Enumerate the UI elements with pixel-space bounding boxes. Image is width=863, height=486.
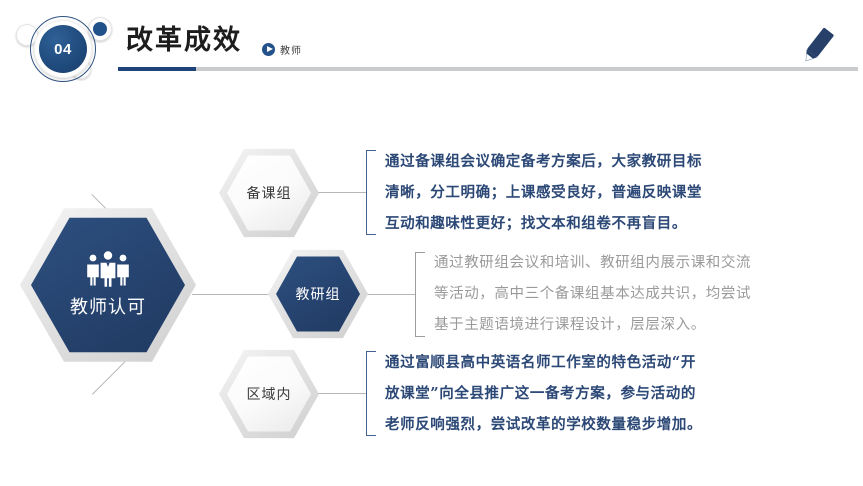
slide-canvas: 04 改革成效 教师 [0,0,863,486]
play-icon [262,43,275,56]
hex-node-3-label: 区域内 [247,384,292,404]
description-line: 通过富顺县高中英语名师工作室的特色活动“开 [385,347,702,378]
people-group-icon [82,251,134,287]
description-line: 互动和趣味性更好；找文本和组卷不再盲目。 [385,208,702,239]
description-block-1: 通过备课组会议确定备考方案后，大家教研目标 清晰，分工明确；上课感受良好，普遍反… [385,146,702,239]
hex-node-3[interactable]: 区域内 [219,348,319,440]
description-line: 老师反响强烈，尝试改革的学校数量稳步增加。 [385,409,702,440]
text-bracket-3 [366,351,376,436]
text-bracket-2 [415,252,425,337]
text-bracket-1 [366,150,376,235]
description-line: 通过教研组会议和培训、教研组内展示课和交流 [434,248,751,279]
description-line: 清晰，分工明确；上课感受良好，普遍反映课堂 [385,177,702,208]
header-subtitle-label: 教师 [280,42,302,57]
hex-node-1[interactable]: 备课组 [219,147,319,239]
pencil-icon [800,26,834,66]
title-rule [118,67,858,71]
description-line: 通过备课组会议确定备考方案后，大家教研目标 [385,146,702,177]
description-line: 放课堂”向全县推广这一备考方案，参与活动的 [385,378,702,409]
connector-node3-to-text3 [318,393,366,394]
header-subtitle: 教师 [262,42,302,57]
hex-node-main[interactable]: 教师认可 [20,205,196,365]
description-block-2: 通过教研组会议和培训、教研组内展示课和交流 等活动，高中三个备课组基本达成共识，… [434,248,751,341]
hex-node-2-label: 教研组 [296,284,341,304]
hex-node-2[interactable]: 教研组 [268,248,368,340]
decor-circle-top-right-fill [93,22,107,36]
hex-node-1-label: 备课组 [247,183,292,203]
description-block-3: 通过富顺县高中英语名师工作室的特色活动“开 放课堂”向全县推广这一备考方案，参与… [385,347,702,440]
connector-main-to-node2 [192,294,276,295]
step-badge: 04 [8,4,118,96]
connector-node2-to-text2 [367,294,415,295]
description-line: 等活动，高中三个备课组基本达成共识，均尝试 [434,279,751,310]
hex-node-main-label: 教师认可 [70,293,146,319]
description-line: 基于主题语境进行课程设计，层层深入。 [434,310,751,341]
title-rule-accent [118,67,196,71]
page-title: 改革成效 [126,27,242,54]
step-number: 04 [39,25,87,73]
connector-node1-to-text1 [318,192,366,193]
